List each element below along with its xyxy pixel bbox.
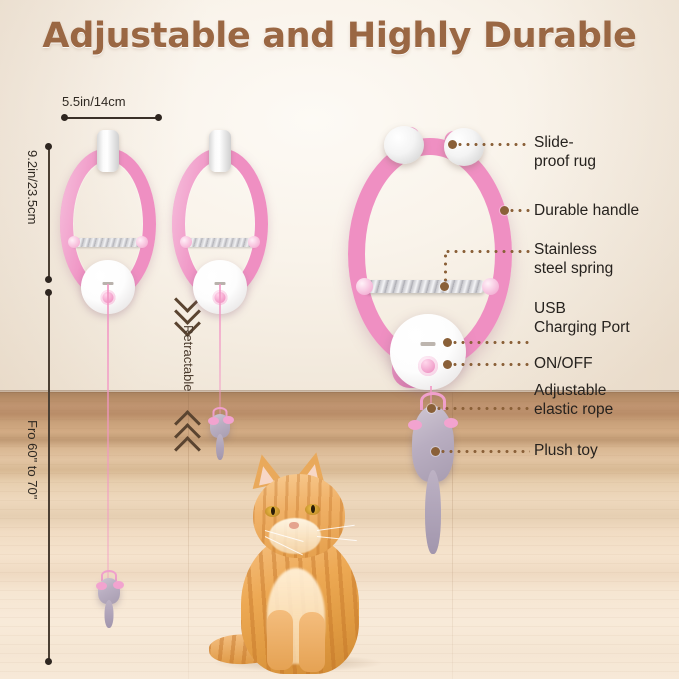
width-measurement-line	[64, 117, 158, 119]
callout-label-durable-handle: Durable handle	[534, 201, 639, 220]
usb-port-icon	[421, 342, 436, 346]
dimension-endpoint-dot	[155, 114, 162, 121]
toy-ear	[223, 416, 234, 424]
callout-leader-line	[451, 363, 530, 366]
dimension-endpoint-dot	[61, 114, 68, 121]
control-module-main	[390, 314, 466, 390]
product-ring-main	[340, 124, 520, 384]
spring-end-cap	[356, 278, 373, 295]
callout-leader-line-vertical	[444, 252, 447, 286]
suction-cup-left-icon	[384, 126, 424, 164]
callout-label-slide-proof-rug: Slide- proof rug	[534, 133, 596, 171]
callout-label-usb-port: USB Charging Port	[534, 299, 630, 337]
toy-ear	[408, 420, 422, 430]
cat-pupil	[311, 505, 315, 513]
dimension-endpoint-dot	[45, 658, 52, 665]
callout-leader-line	[439, 450, 530, 453]
suction-cup-icon	[209, 130, 231, 172]
spring-end-cap	[248, 236, 260, 248]
page-title: Adjustable and Highly Durable	[0, 16, 679, 56]
callout-leader-line	[508, 209, 530, 212]
callout-label-stainless-spring: Stainless steel spring	[534, 240, 613, 278]
suction-cup-icon	[97, 130, 119, 172]
callout-leader-line	[451, 341, 530, 344]
retractable-label: Retractable	[181, 325, 196, 391]
cat-nose	[289, 522, 299, 529]
cat-front-leg	[267, 610, 293, 670]
toy-ear	[444, 418, 458, 428]
callout-leader-line	[456, 143, 528, 146]
callout-label-elastic-rope: Adjustable elastic rope	[534, 381, 613, 419]
drop-range-measurement-line	[48, 292, 50, 664]
cat-pupil	[271, 507, 275, 515]
elastic-rope	[219, 284, 221, 416]
spring-end-cap	[68, 236, 80, 248]
stainless-steel-spring	[72, 238, 145, 247]
toy-ear	[96, 582, 107, 590]
callout-leader-line	[444, 250, 530, 253]
callout-label-on-off: ON/OFF	[534, 354, 593, 373]
stainless-steel-spring	[184, 238, 257, 247]
width-measurement-label: 5.5in/14cm	[62, 94, 126, 109]
spring-end-cap	[180, 236, 192, 248]
power-button-icon[interactable]	[418, 356, 438, 376]
stainless-steel-spring-main	[364, 280, 486, 293]
toy-ear	[208, 417, 219, 425]
callout-leader-line	[435, 407, 530, 410]
height-measurement-line	[48, 146, 50, 282]
spring-end-cap	[482, 278, 499, 295]
elastic-rope	[107, 284, 109, 580]
dimension-endpoint-dot	[45, 276, 52, 283]
toy-ear	[113, 581, 124, 589]
dimension-endpoint-dot	[45, 289, 52, 296]
cat-illustration	[205, 448, 395, 679]
toy-tail	[425, 470, 441, 554]
plush-toy-1	[98, 578, 120, 628]
infographic-canvas: Adjustable and Highly Durable 5.5in/14cm…	[0, 0, 679, 679]
drop-range-label: Fro 60" to 70"	[25, 420, 40, 499]
cat-front-leg	[299, 612, 325, 672]
spring-end-cap	[136, 236, 148, 248]
plush-toy-main	[412, 406, 454, 554]
toy-tail	[105, 600, 114, 628]
dimension-endpoint-dot	[45, 143, 52, 150]
height-measurement-label: 9.2in/23.5cm	[25, 150, 40, 224]
callout-label-plush-toy: Plush toy	[534, 441, 598, 460]
